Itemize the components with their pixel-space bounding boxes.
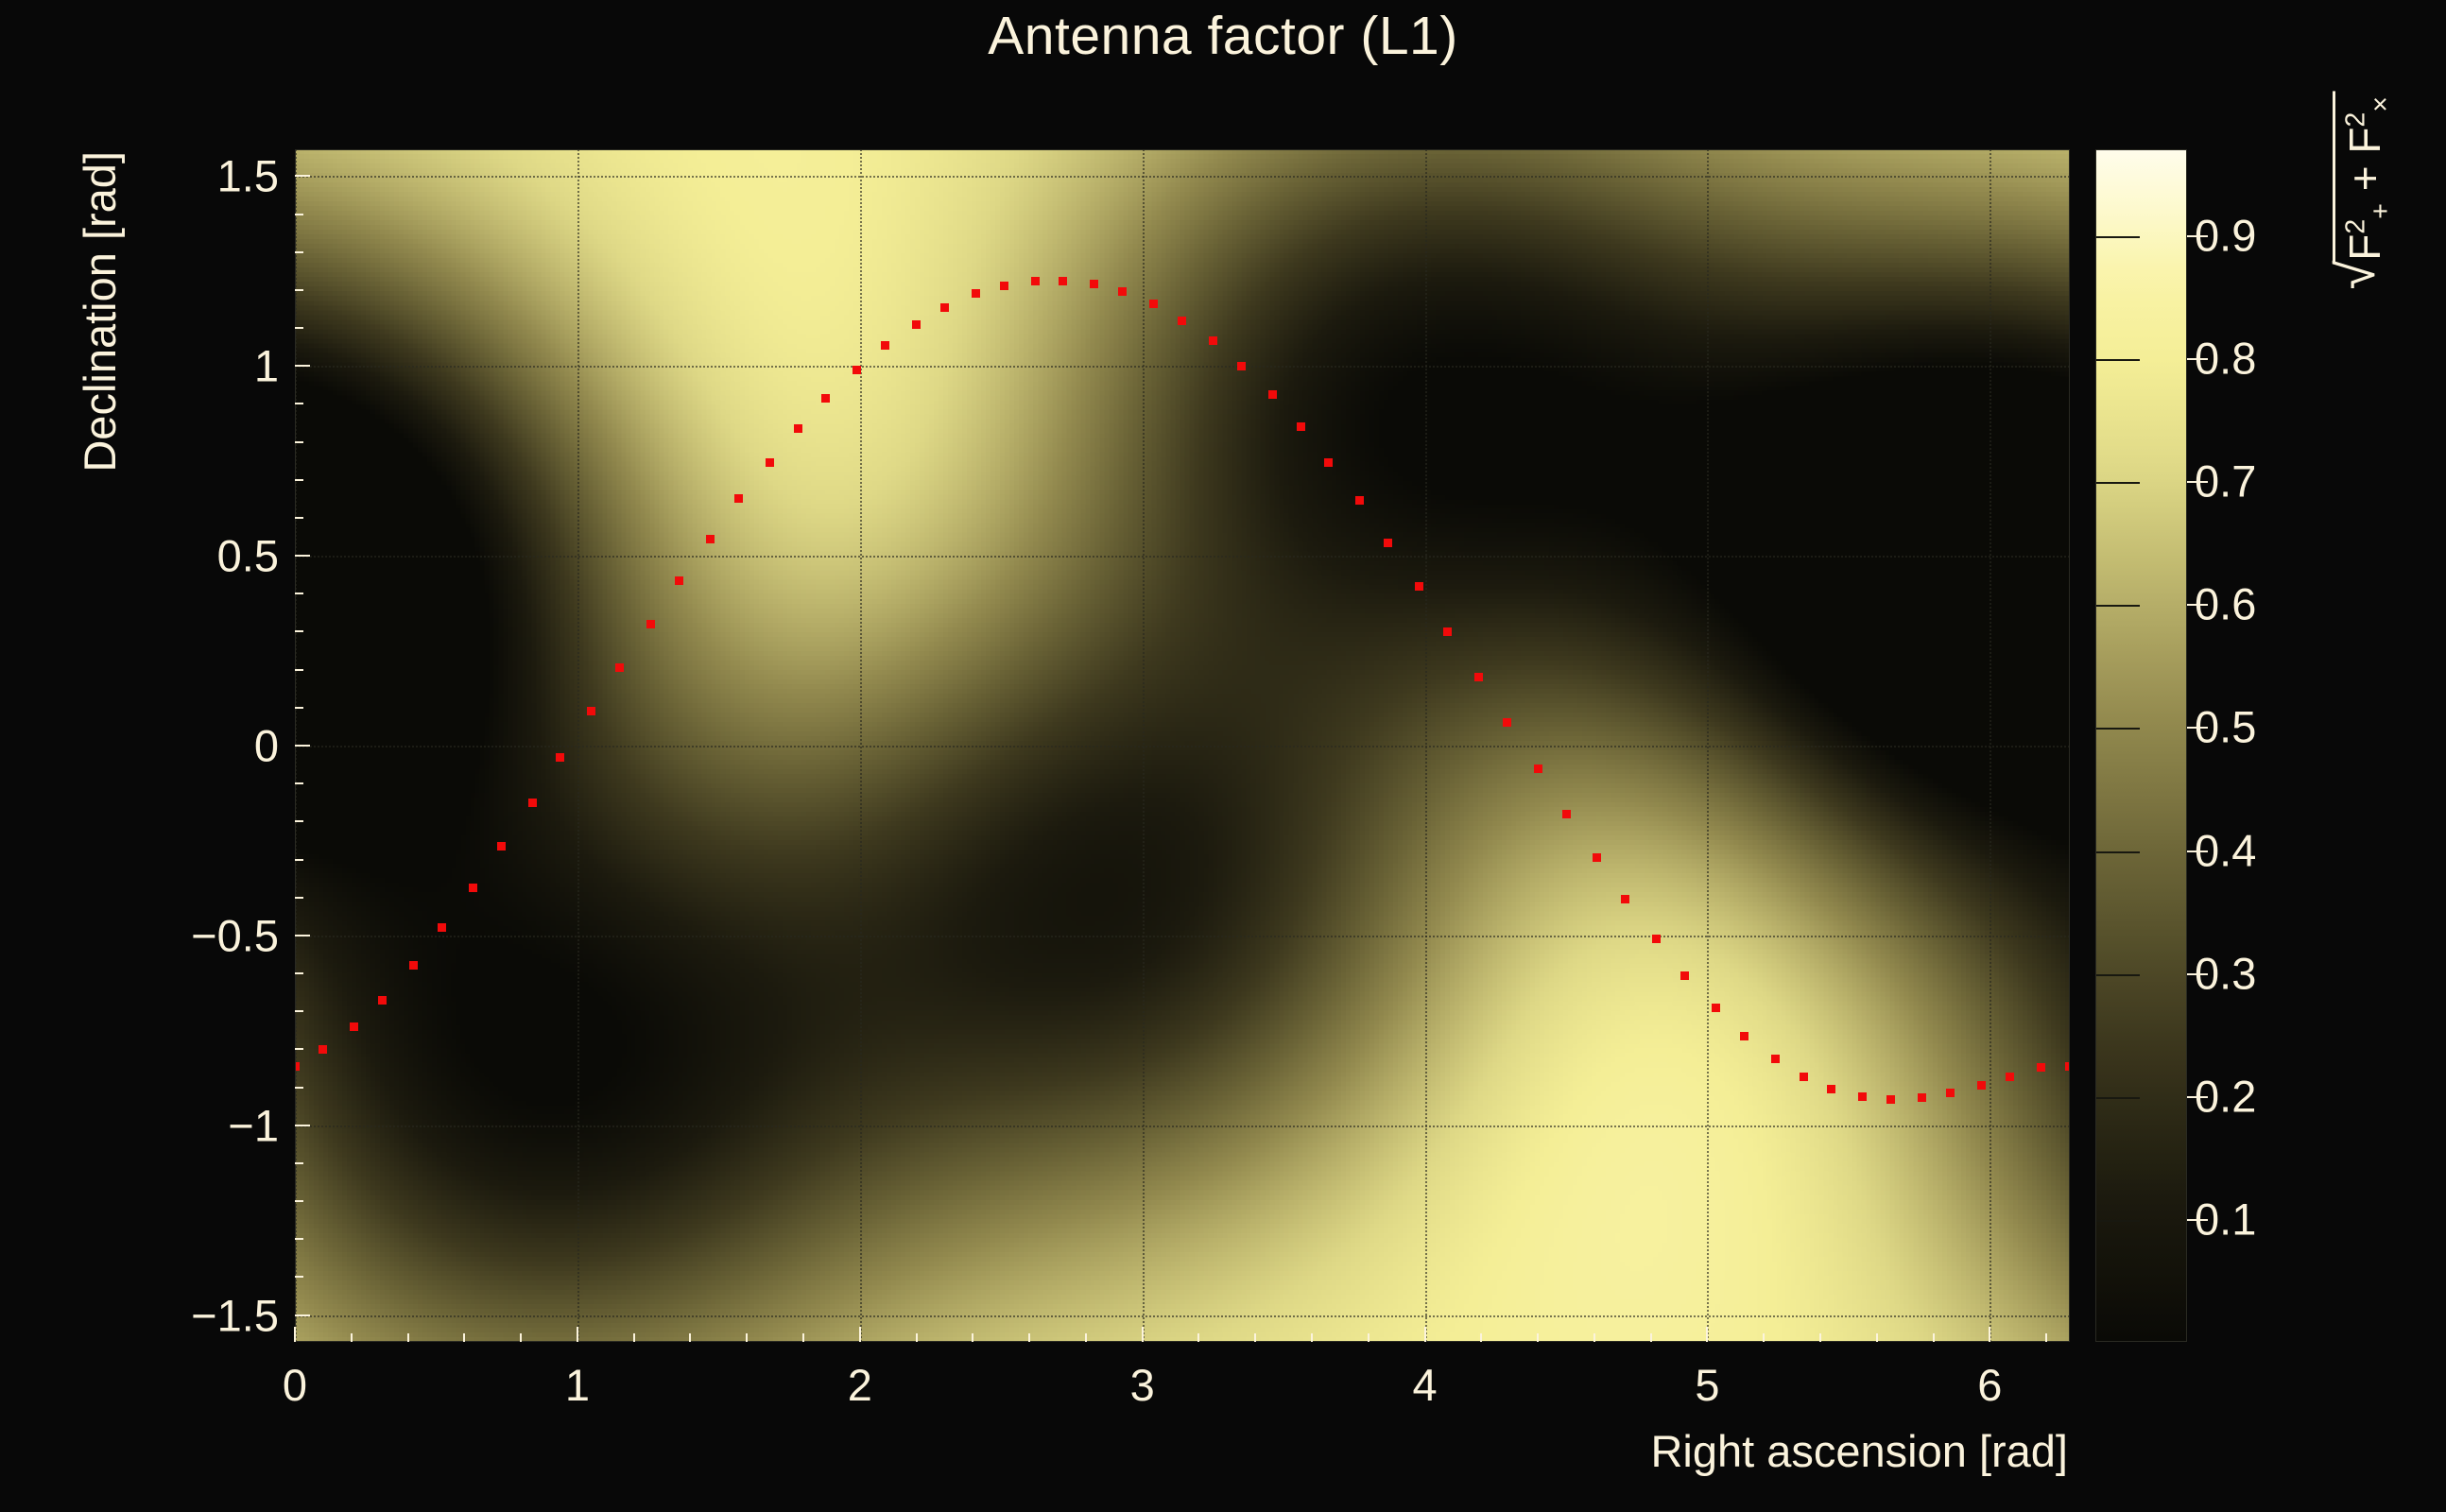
curve-marker: [295, 1062, 300, 1071]
x-tick-minor: [1593, 1333, 1595, 1342]
y-tick-major-5: [295, 365, 310, 367]
radical-icon: √ F2+ + F2×: [2333, 91, 2397, 289]
curve-marker: [1118, 287, 1127, 296]
x-tick-minor: [463, 1333, 465, 1342]
x-tick-major-1: [577, 1327, 578, 1342]
curve-marker: [2006, 1073, 2014, 1081]
y-tick-minor: [295, 1087, 303, 1089]
colorbar-tick-8: [2096, 236, 2140, 238]
curve-marker: [438, 923, 446, 932]
colorbar-tick-7: [2096, 359, 2140, 361]
y-tick-major-6: [295, 175, 310, 177]
curve-marker: [1000, 282, 1008, 290]
x-tick-minor: [1819, 1333, 1821, 1342]
y-tick-label-4: 0.5: [123, 530, 279, 582]
x-tick-minor: [1368, 1333, 1369, 1342]
x-tick-minor: [351, 1333, 353, 1342]
x-tick-label-1: 1: [565, 1359, 590, 1411]
x-tick-minor: [746, 1333, 748, 1342]
y-tick-minor: [295, 1010, 303, 1012]
colorbar-tick-0: [2096, 1220, 2140, 1222]
x-tick-minor: [1197, 1333, 1199, 1342]
colorbar-tick-2: [2096, 974, 2140, 976]
y-tick-label-1: −1: [123, 1099, 279, 1151]
plot-canvas: Antenna factor (L1) 0123456−1.5−1−0.500.…: [0, 0, 2446, 1512]
colorbar-tick-1: [2096, 1097, 2140, 1099]
colorbar-gradient: [2096, 150, 2186, 1341]
curve-marker: [1652, 935, 1661, 943]
curve-marker: [1712, 1004, 1720, 1012]
colorbar-tick-label-6: 0.7: [2195, 455, 2256, 507]
colorbar-tick-4: [2096, 728, 2140, 730]
x-tick-minor: [1763, 1333, 1765, 1342]
y-tick-minor: [295, 897, 303, 899]
curve-marker: [1680, 971, 1689, 980]
f-plus-symbol: F: [2340, 234, 2389, 261]
x-tick-minor: [802, 1333, 804, 1342]
x-tick-label-2: 2: [848, 1359, 872, 1411]
curve-marker: [794, 424, 802, 433]
curve-marker: [1237, 362, 1246, 370]
y-tick-minor: [295, 214, 303, 215]
curve-marker: [1178, 317, 1186, 325]
y-tick-minor: [295, 1238, 303, 1240]
x-tick-minor: [520, 1333, 522, 1342]
x-tick-minor: [633, 1333, 635, 1342]
curve-marker: [1324, 458, 1333, 467]
curve-marker: [469, 884, 477, 892]
curve-marker: [1415, 582, 1423, 591]
y-tick-minor: [295, 327, 303, 329]
y-tick-minor: [295, 630, 303, 632]
curve-marker: [587, 707, 595, 715]
curve-marker: [1946, 1089, 1955, 1097]
x-tick-minor: [2045, 1333, 2047, 1342]
x-tick-major-3: [1142, 1327, 1144, 1342]
y-tick-minor: [295, 593, 303, 594]
curve-marker: [528, 799, 537, 807]
y-tick-minor: [295, 820, 303, 822]
colorbar-tick-label-8: 0.9: [2195, 210, 2256, 262]
y-tick-major-1: [295, 1125, 310, 1126]
y-tick-minor: [295, 782, 303, 784]
colorbar-tick-5: [2096, 605, 2140, 607]
curve-marker: [1858, 1092, 1867, 1101]
curve-marker: [912, 320, 921, 329]
curve-marker: [1534, 765, 1542, 773]
colorbar-tick-label-1: 0.2: [2195, 1070, 2256, 1122]
curve-marker: [1918, 1093, 1926, 1102]
curve-marker: [734, 494, 743, 503]
x-tick-minor: [689, 1333, 691, 1342]
x-tick-minor: [407, 1333, 409, 1342]
curve-marker: [766, 458, 774, 467]
x-tick-minor: [1254, 1333, 1256, 1342]
colorbar-tick-label-0: 0.1: [2195, 1193, 2256, 1245]
f-plus-exponent: 2: [2341, 219, 2371, 234]
curve-marker: [881, 341, 889, 350]
curve-marker: [1209, 336, 1217, 345]
y-tick-minor: [295, 251, 303, 253]
x-tick-label-3: 3: [1130, 1359, 1155, 1411]
y-tick-minor: [295, 972, 303, 974]
y-tick-minor: [295, 1276, 303, 1278]
curve-marker: [556, 753, 564, 762]
curve-marker: [646, 620, 655, 628]
y-tick-minor: [295, 669, 303, 671]
y-tick-minor: [295, 479, 303, 481]
f-cross-exponent: 2: [2341, 112, 2371, 128]
curve-marker: [319, 1045, 327, 1054]
x-tick-major-6: [1989, 1327, 1990, 1342]
x-tick-minor: [916, 1333, 918, 1342]
radical-sign: √: [2333, 261, 2397, 290]
y-tick-label-2: −0.5: [123, 909, 279, 961]
curve-marker: [940, 303, 949, 312]
curve-marker: [1800, 1073, 1808, 1081]
curve-marker: [350, 1022, 358, 1031]
x-tick-label-5: 5: [1695, 1359, 1719, 1411]
f-plus-subscript: +: [2366, 203, 2396, 219]
x-tick-minor: [972, 1333, 973, 1342]
y-tick-minor: [295, 403, 303, 404]
colorbar-tick-label-4: 0.5: [2195, 701, 2256, 753]
curve-marker: [1621, 895, 1629, 903]
f-cross-symbol: F: [2340, 128, 2389, 154]
y-tick-minor: [295, 517, 303, 519]
x-tick-major-5: [1706, 1327, 1708, 1342]
curve-marker: [853, 366, 861, 374]
curve-marker: [1031, 277, 1040, 285]
x-tick-label-4: 4: [1412, 1359, 1437, 1411]
f-cross-subscript: ×: [2366, 96, 2396, 112]
y-tick-minor: [295, 1048, 303, 1050]
x-tick-minor: [1311, 1333, 1313, 1342]
plus-operator: +: [2340, 165, 2389, 191]
curve-marker: [1059, 277, 1067, 285]
x-tick-major-2: [859, 1327, 861, 1342]
curve-marker: [1503, 718, 1511, 727]
colorbar-tick-label-5: 0.6: [2195, 578, 2256, 630]
curve-marker: [1886, 1095, 1895, 1104]
curve-marker: [972, 289, 980, 298]
curve-marker: [2037, 1063, 2045, 1072]
curve-marker: [1090, 280, 1098, 288]
y-tick-major-2: [295, 935, 310, 936]
curve-marker: [1771, 1055, 1780, 1063]
heatmap-image: [295, 149, 2070, 1342]
y-tick-label-3: 0: [123, 720, 279, 772]
curve-marker: [1355, 496, 1364, 505]
heatmap-plot-area[interactable]: [295, 149, 2070, 1342]
x-tick-minor: [1933, 1333, 1935, 1342]
x-tick-minor: [1876, 1333, 1878, 1342]
curve-marker: [1384, 539, 1392, 547]
y-tick-major-4: [295, 555, 310, 557]
curve-marker: [378, 996, 387, 1005]
curve-marker: [1474, 673, 1483, 681]
colorbar-tick-label-3: 0.4: [2195, 824, 2256, 876]
x-tick-minor: [1480, 1333, 1482, 1342]
x-tick-minor: [1650, 1333, 1652, 1342]
x-tick-minor: [1085, 1333, 1087, 1342]
curve-marker: [497, 842, 506, 850]
x-tick-label-0: 0: [283, 1359, 307, 1411]
curve-marker: [1149, 300, 1158, 308]
y-tick-minor: [295, 441, 303, 443]
curve-marker: [1297, 422, 1305, 431]
curve-marker: [1562, 810, 1571, 818]
x-tick-minor: [1028, 1333, 1030, 1342]
colorbar[interactable]: [2095, 149, 2187, 1342]
y-tick-major-3: [295, 745, 310, 747]
curve-marker: [706, 535, 715, 543]
x-axis-title: Right ascension [rad]: [1650, 1425, 2068, 1477]
y-tick-major-0: [295, 1314, 310, 1316]
y-tick-minor: [295, 289, 303, 291]
page-title: Antenna factor (L1): [0, 6, 2446, 68]
y-tick-minor: [295, 859, 303, 861]
colorbar-tick-label-7: 0.8: [2195, 333, 2256, 385]
curve-marker: [1443, 627, 1452, 636]
x-tick-major-0: [294, 1327, 296, 1342]
x-tick-major-4: [1424, 1327, 1426, 1342]
y-tick-label-6: 1.5: [123, 150, 279, 202]
curve-marker: [2065, 1062, 2070, 1071]
x-tick-label-6: 6: [1977, 1359, 2002, 1411]
curve-marker: [615, 663, 624, 672]
curve-marker: [1593, 853, 1601, 862]
curve-marker: [1827, 1085, 1835, 1093]
y-tick-minor: [295, 707, 303, 709]
colorbar-title: √ F2+ + F2×: [2333, 91, 2397, 289]
curve-marker: [1268, 390, 1277, 399]
y-axis-title: Declination [rad]: [74, 151, 126, 472]
curve-marker: [675, 576, 683, 585]
colorbar-tick-3: [2096, 851, 2140, 853]
colorbar-tick-label-2: 0.3: [2195, 947, 2256, 999]
y-tick-minor: [295, 1200, 303, 1202]
curve-marker: [821, 394, 830, 403]
curve-marker: [1977, 1081, 1986, 1090]
curve-marker: [1740, 1032, 1748, 1040]
curve-marker: [409, 961, 418, 970]
y-tick-label-5: 1: [123, 340, 279, 392]
colorbar-tick-6: [2096, 482, 2140, 484]
y-tick-minor: [295, 1162, 303, 1164]
x-tick-minor: [1537, 1333, 1539, 1342]
y-tick-label-0: −1.5: [123, 1289, 279, 1341]
